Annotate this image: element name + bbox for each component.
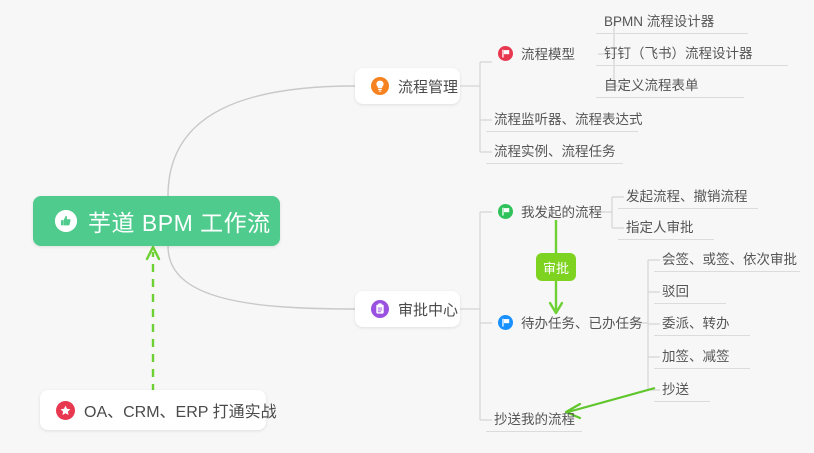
- node-process-listener[interactable]: 流程监听器、流程表达式: [486, 108, 638, 132]
- flag-icon: [498, 46, 513, 61]
- node-process-instance[interactable]: 流程实例、流程任务: [486, 140, 623, 164]
- root-node[interactable]: 芋道 BPM 工作流: [33, 196, 280, 246]
- flag-icon: [498, 204, 513, 219]
- node-label: 会签、或签、依次审批: [662, 248, 797, 268]
- link-root-process-management: [168, 86, 355, 196]
- node-custom-form[interactable]: 自定义流程表单: [596, 74, 744, 98]
- node-reject[interactable]: 驳回: [654, 280, 726, 304]
- node-label: 指定人审批: [626, 216, 694, 236]
- node-label: 抄送我的流程: [494, 408, 575, 428]
- branch-approval-center[interactable]: 审批中心: [355, 291, 460, 327]
- node-process-model[interactable]: 流程模型: [490, 42, 598, 66]
- thumbs-up-icon: [55, 210, 77, 232]
- node-label: 委派、转办: [662, 312, 730, 332]
- root-label: 芋道 BPM 工作流: [88, 204, 271, 238]
- node-label: 我发起的流程: [521, 201, 602, 221]
- node-label: 加签、减签: [662, 345, 730, 365]
- node-add-remove-sign[interactable]: 加签、减签: [654, 345, 750, 369]
- node-label: 待办任务、已办任务: [521, 312, 643, 332]
- node-label: 自定义流程表单: [604, 74, 699, 94]
- node-label: 钉钉（飞书）流程设计器: [604, 42, 753, 62]
- node-label: 抄送: [662, 378, 689, 398]
- node-label: 驳回: [662, 280, 689, 300]
- branch-label: 审批中心: [398, 299, 458, 320]
- approval-badge: 审批: [536, 253, 576, 281]
- integration-card-label: OA、CRM、ERP 打通实战: [84, 398, 277, 422]
- node-dingtalk-designer[interactable]: 钉钉（飞书）流程设计器: [596, 42, 788, 66]
- node-label: BPMN 流程设计器: [604, 10, 714, 30]
- node-label: 流程监听器、流程表达式: [494, 108, 643, 128]
- star-icon: [56, 401, 75, 420]
- lightbulb-icon: [371, 77, 389, 95]
- node-cc-to-me-process[interactable]: 抄送我的流程: [486, 408, 582, 432]
- node-label: 流程模型: [521, 43, 575, 63]
- clipboard-icon: [371, 300, 389, 318]
- node-start-cancel-process[interactable]: 发起流程、撤销流程: [618, 185, 758, 209]
- branch-process-management[interactable]: 流程管理: [355, 68, 460, 104]
- node-assignee-approval[interactable]: 指定人审批: [618, 216, 714, 240]
- node-label: 流程实例、流程任务: [494, 140, 616, 160]
- branch-label: 流程管理: [398, 76, 458, 97]
- integration-card[interactable]: OA、CRM、ERP 打通实战: [40, 390, 266, 430]
- node-delegate-transfer[interactable]: 委派、转办: [654, 312, 750, 336]
- node-todo-done-tasks[interactable]: 待办任务、已办任务: [490, 311, 630, 335]
- integration-arrow: [147, 247, 159, 392]
- approval-badge-label: 审批: [543, 258, 569, 277]
- flag-icon: [498, 315, 513, 330]
- node-my-started-process[interactable]: 我发起的流程: [490, 200, 598, 224]
- node-multi-approval[interactable]: 会签、或签、依次审批: [654, 248, 800, 272]
- link-root-approval-center: [168, 246, 355, 309]
- mindmap-canvas: 芋道 BPM 工作流 流程管理 流程模型 BPMN 流程设计器 钉钉（飞书）流程…: [0, 0, 814, 453]
- node-cc[interactable]: 抄送: [654, 378, 710, 402]
- node-label: 发起流程、撤销流程: [626, 185, 748, 205]
- node-bpmn-designer[interactable]: BPMN 流程设计器: [596, 10, 748, 34]
